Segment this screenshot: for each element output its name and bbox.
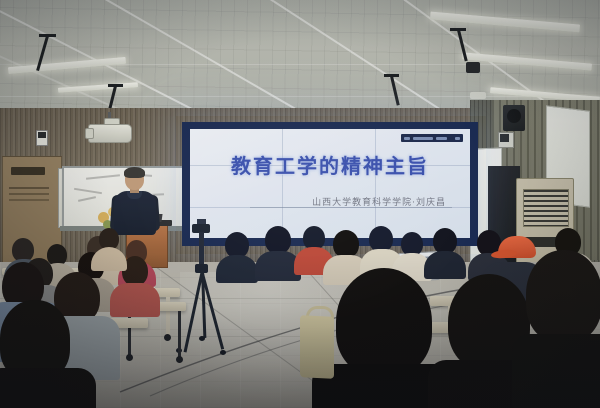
slide-surface: 教育工学的精神主旨 山西大学教育科学学院·刘庆昌 — [190, 129, 470, 238]
desk-leg — [178, 311, 181, 357]
audience-member-orange-cap — [498, 236, 536, 258]
audience-shoulders — [512, 334, 600, 408]
door-sign — [11, 167, 45, 175]
wall-control-panel[interactable] — [36, 130, 48, 146]
ceiling-seam — [0, 96, 600, 97]
lecture-hall-photo: 教育工学的精神主旨 山西大学教育科学学院·刘庆昌 — [0, 0, 600, 408]
whiteboard-writing — [74, 188, 102, 194]
screen-panel-seam — [375, 129, 376, 238]
audience-shoulders — [110, 283, 160, 317]
ceiling-speaker-icon — [466, 62, 480, 73]
desk-caster — [176, 356, 183, 363]
badge-mark — [413, 137, 433, 140]
wall-camera-bracket — [498, 132, 514, 148]
presenter-speaker — [112, 168, 158, 234]
audience-shoulders — [216, 255, 258, 283]
whiteboard-writing — [78, 196, 96, 202]
desk-caster — [164, 334, 171, 341]
slide-subtitle: 山西大学教育科学学院·刘庆昌 — [312, 195, 446, 208]
tripod-foot — [220, 350, 226, 355]
screen-panel-seam — [282, 129, 283, 238]
audience-head — [265, 226, 291, 254]
slide-toolbar-badge — [401, 134, 463, 142]
audience-head — [526, 250, 600, 342]
tote-bag — [300, 315, 334, 379]
tripod-center-column — [199, 232, 204, 266]
ceiling-projector — [88, 124, 132, 143]
door-notice-text — [9, 187, 49, 189]
ceiling-vent — [470, 92, 486, 99]
badge-mark — [436, 137, 447, 140]
audience-shoulders — [0, 368, 96, 408]
slide-title: 教育工学的精神主旨 — [190, 150, 470, 179]
desk-caster — [126, 354, 133, 361]
presenter-hair — [124, 167, 145, 178]
audience-head — [333, 230, 359, 258]
tripod-foot — [199, 336, 205, 341]
audience-shoulders — [424, 251, 466, 279]
wall-speaker-icon — [503, 105, 525, 131]
badge-mark — [404, 137, 410, 140]
air-conditioner-grill — [523, 189, 569, 227]
audience-head — [336, 268, 432, 376]
badge-mark — [455, 137, 460, 140]
